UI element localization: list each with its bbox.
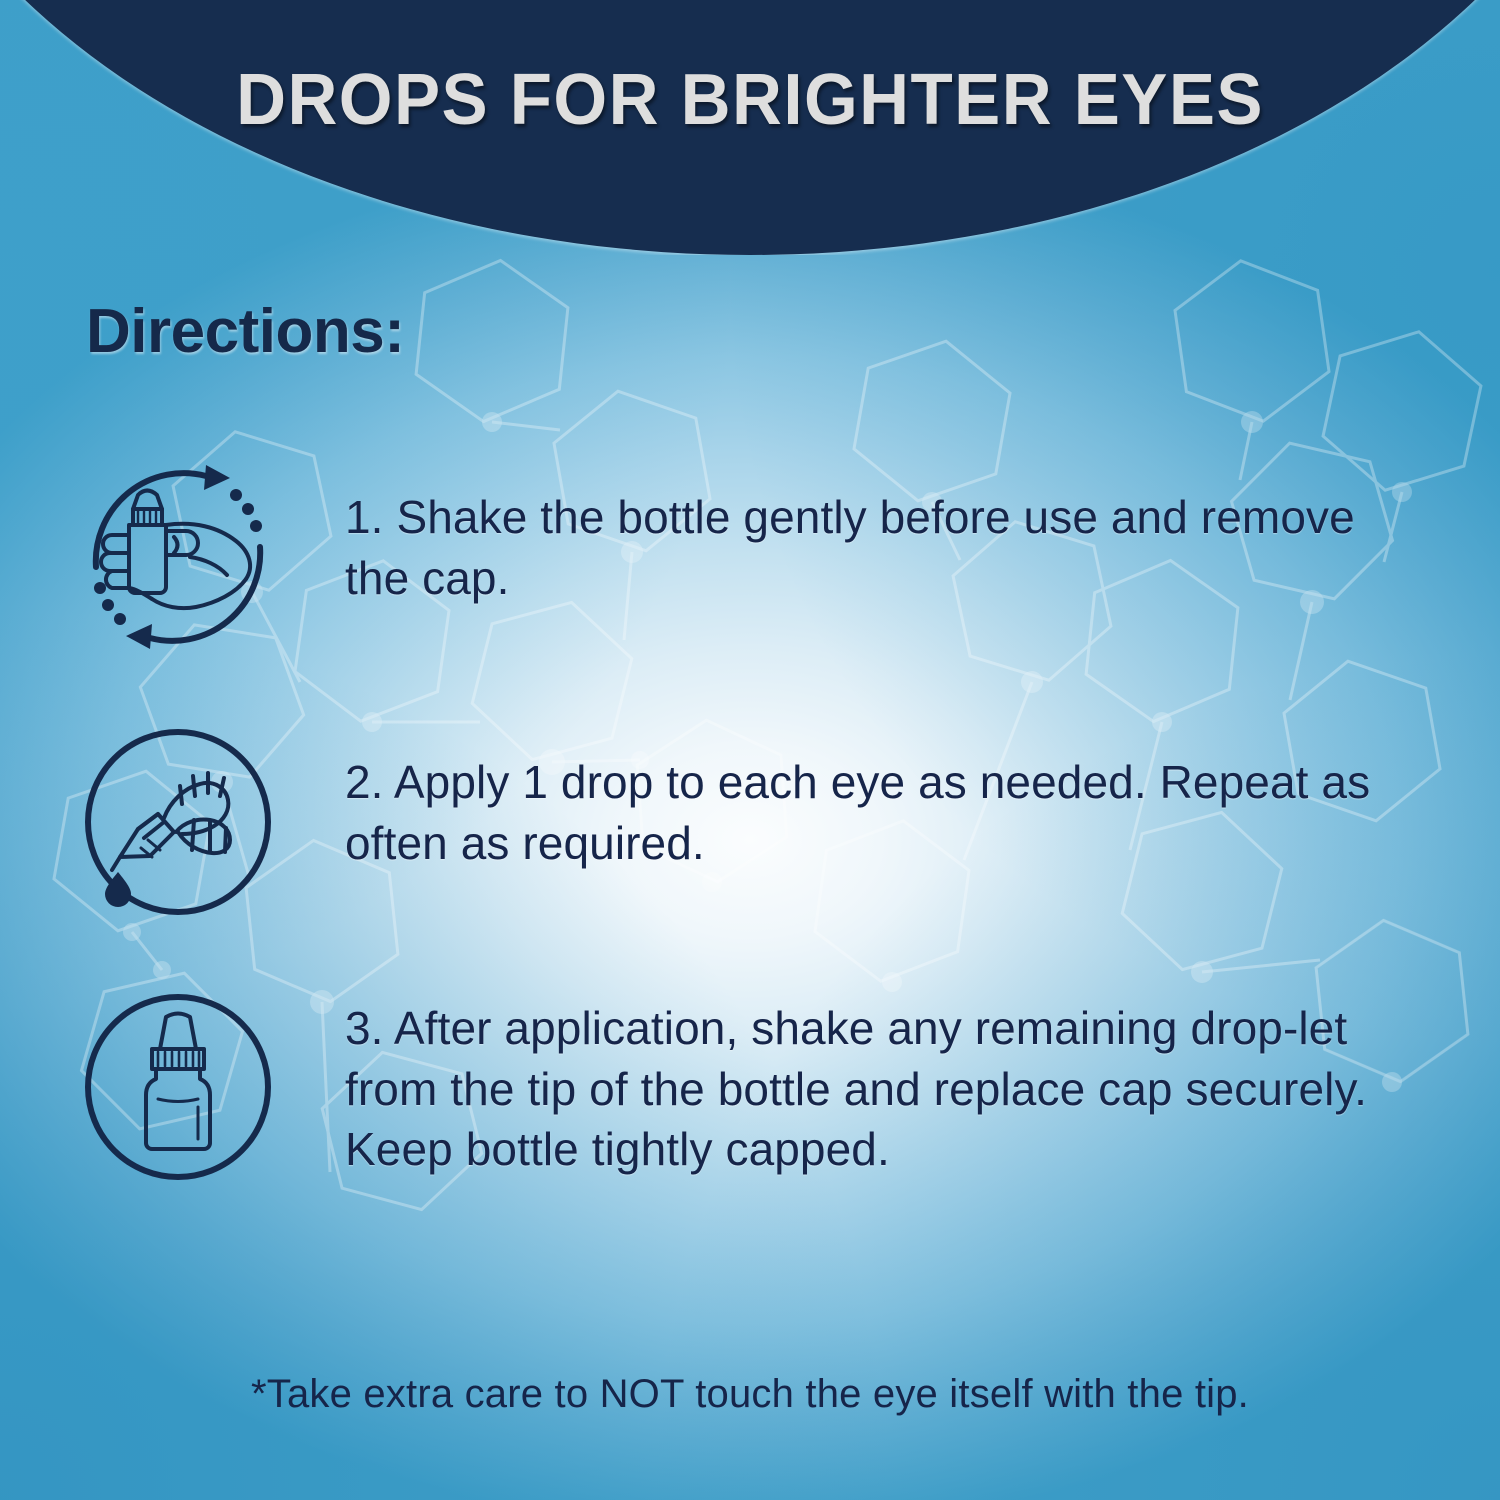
capped-dropper-bottle-icon	[78, 987, 278, 1187]
shake-bottle-in-hand-icon	[78, 457, 278, 657]
direction-step: 1. Shake the bottle gently before use an…	[0, 445, 1500, 710]
poster-header: DROPS FOR BRIGHTER EYES	[0, 0, 1500, 255]
page-title: DROPS FOR BRIGHTER EYES	[30, 0, 1470, 200]
direction-step-text: 3. After application, shake any remainin…	[345, 998, 1420, 1180]
product-directions-poster: DROPS FOR BRIGHTER EYES Directions:	[0, 0, 1500, 1500]
directions-heading: Directions:	[86, 296, 404, 367]
squeeze-drop-from-bottle-icon	[78, 722, 278, 922]
direction-step-text: 1. Shake the bottle gently before use an…	[345, 487, 1420, 608]
direction-step-text: 2. Apply 1 drop to each eye as needed. R…	[345, 752, 1420, 873]
direction-step: 2. Apply 1 drop to each eye as needed. R…	[0, 710, 1500, 975]
directions-step-list: 1. Shake the bottle gently before use an…	[0, 445, 1500, 1240]
footnote-text: *Take extra care to NOT touch the eye it…	[0, 1372, 1500, 1417]
direction-step: 3. After application, shake any remainin…	[0, 975, 1500, 1240]
